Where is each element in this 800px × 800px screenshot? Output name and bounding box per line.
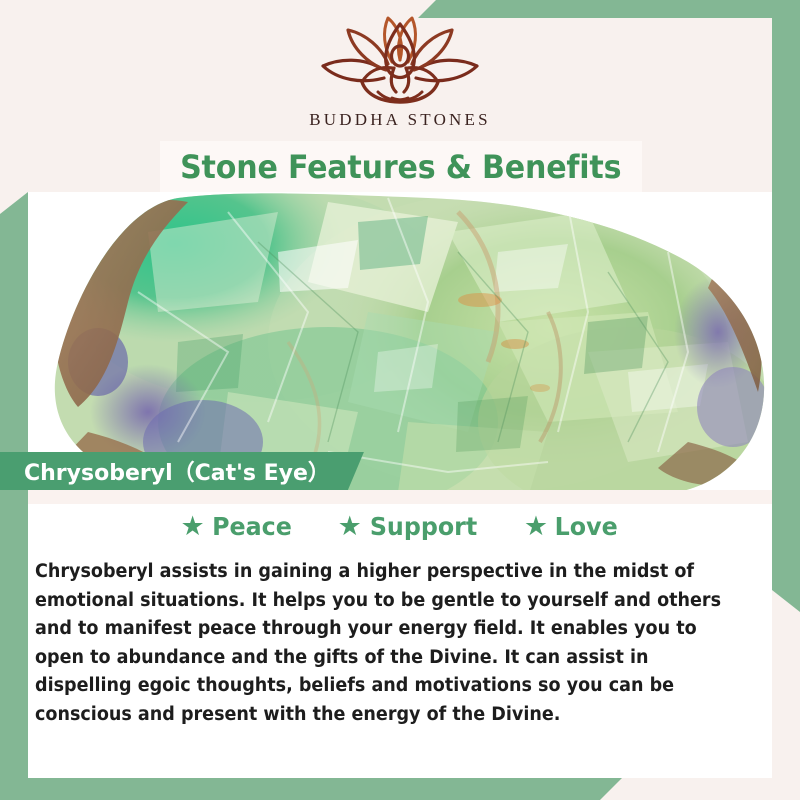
stone-name-text: Chrysoberyl（Cat's Eye） [24,455,330,487]
title-banner: Stone Features & Benefits [160,141,642,192]
keyword-label: Peace [212,512,292,541]
star-icon: ★ [338,513,362,540]
keyword-love: ★ Love [524,512,620,541]
star-icon: ★ [180,513,204,540]
frame-band-bottom [0,778,622,800]
page-title: Stone Features & Benefits [180,148,621,186]
lotus-meditation-icon [0,14,800,108]
frame-band-left [0,192,28,800]
brand-logo: BUDDHA STONES [0,14,800,130]
keyword-label: Love [555,512,618,541]
photo-separator [28,490,772,504]
keyword-support: ★ Support [338,512,480,541]
keyword-row: ★ Peace ★ Support ★ Love [28,512,772,541]
star-icon: ★ [524,513,548,540]
infographic-card: BUDDHA STONES Stone Features & Benefits [0,0,800,800]
stone-description: Chrysoberyl assists in gaining a higher … [35,558,728,729]
keyword-peace: ★ Peace [180,512,293,541]
keyword-label: Support [370,512,477,541]
brand-name: BUDDHA STONES [0,110,800,130]
stone-name-label: Chrysoberyl（Cat's Eye） [0,452,364,490]
